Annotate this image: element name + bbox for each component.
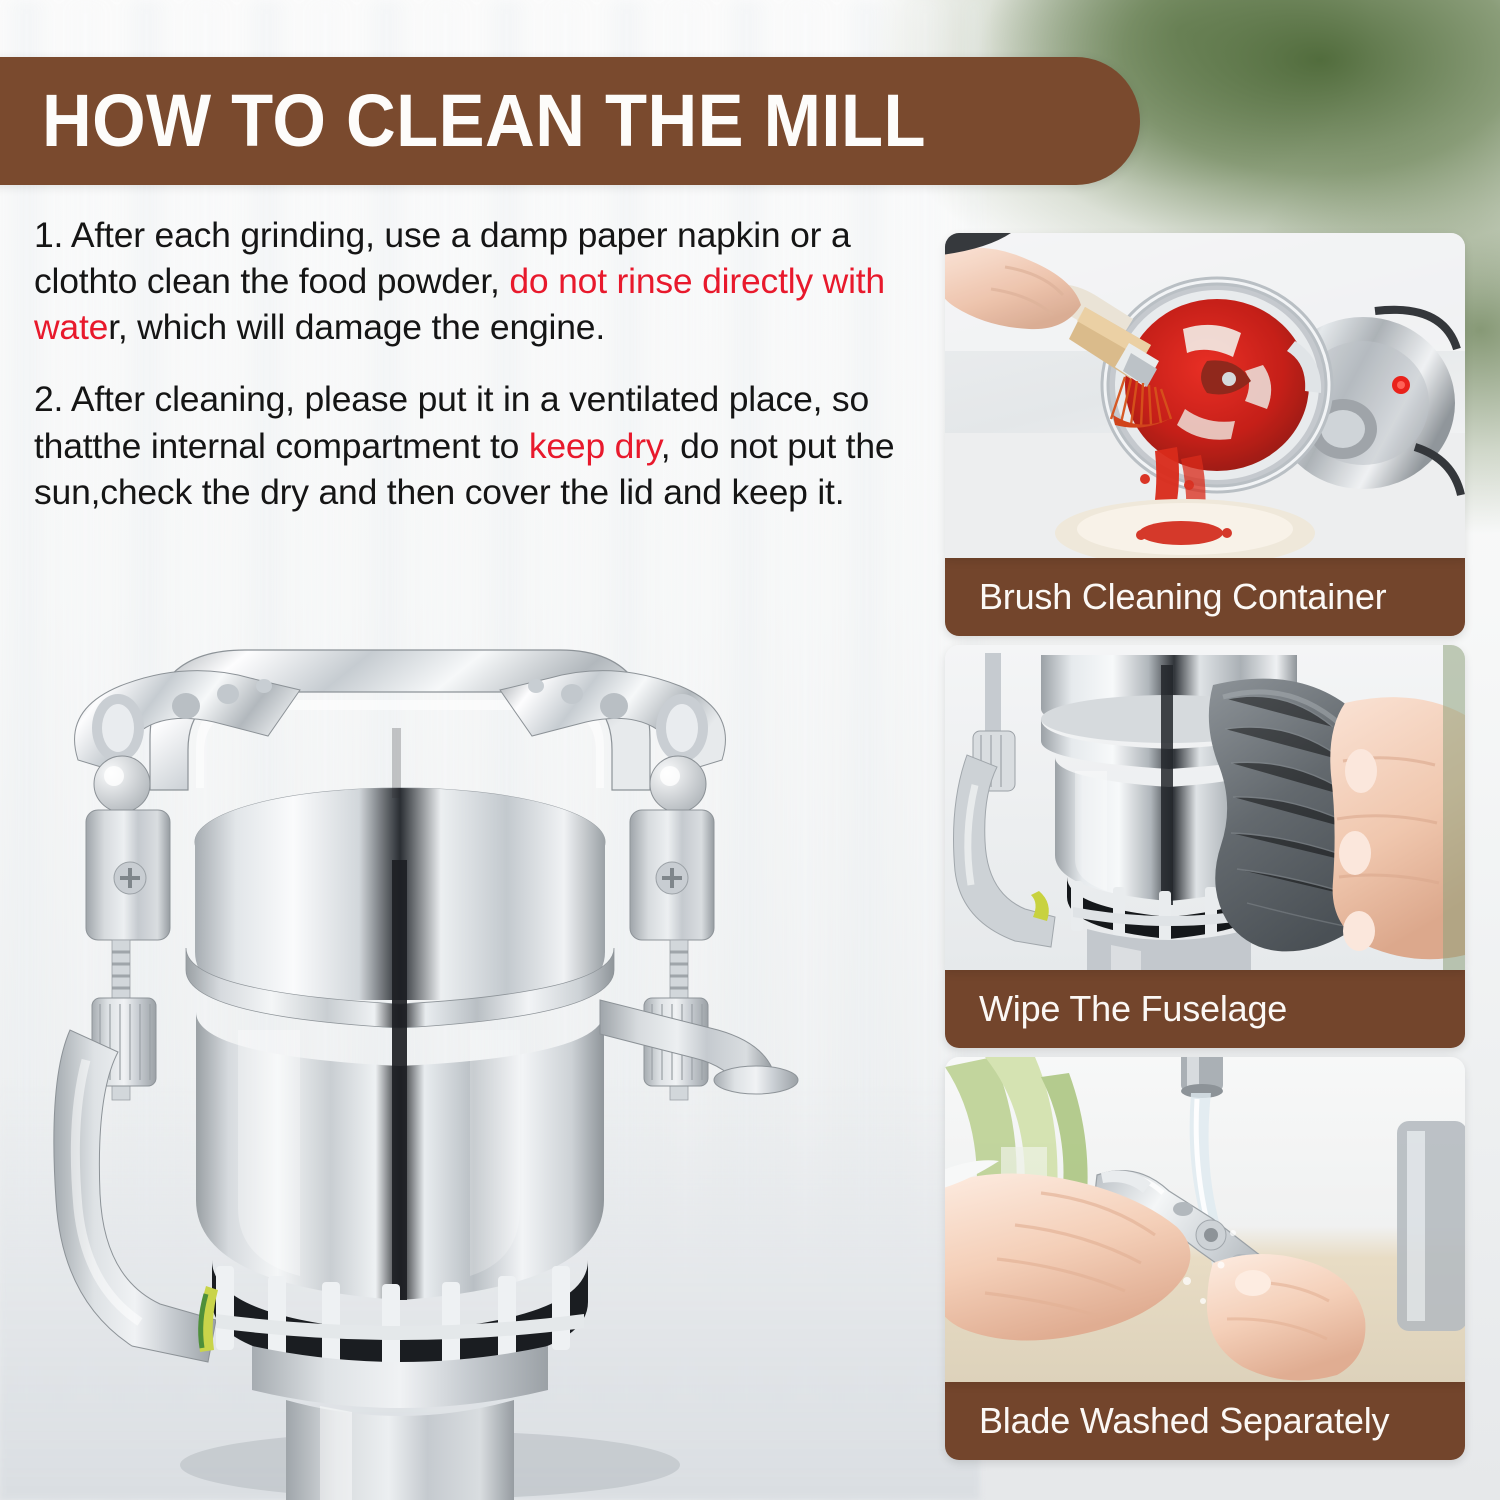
step-1-part-b: r, which will damage the engine. [108, 307, 605, 347]
product-photo-grain-mill [0, 560, 940, 1500]
photo-brush-cleaning-container [945, 233, 1465, 558]
step-2-highlight: keep dry [529, 426, 661, 466]
page-title: HOW TO CLEAN THE MILL [42, 84, 926, 158]
card-blade-washed-separately: Blade Washed Separately [945, 1057, 1465, 1460]
caption-blade-washed-separately: Blade Washed Separately [945, 1382, 1465, 1460]
caption-label: Wipe The Fuselage [979, 988, 1287, 1030]
caption-brush-cleaning-container: Brush Cleaning Container [945, 558, 1465, 636]
card-wipe-the-fuselage: Wipe The Fuselage [945, 645, 1465, 1048]
instruction-step-2: 2. After cleaning, please put it in a ve… [34, 376, 934, 514]
card-brush-cleaning-container: Brush Cleaning Container [945, 233, 1465, 636]
caption-wipe-the-fuselage: Wipe The Fuselage [945, 970, 1465, 1048]
photo-blade-washed-separately [945, 1057, 1465, 1382]
instruction-step-1: 1. After each grinding, use a damp paper… [34, 212, 934, 350]
caption-label: Blade Washed Separately [979, 1400, 1389, 1442]
header-banner: HOW TO CLEAN THE MILL [0, 57, 1140, 185]
photo-wipe-the-fuselage [945, 645, 1465, 970]
caption-label: Brush Cleaning Container [979, 576, 1386, 618]
instruction-list: 1. After each grinding, use a damp paper… [34, 212, 934, 541]
